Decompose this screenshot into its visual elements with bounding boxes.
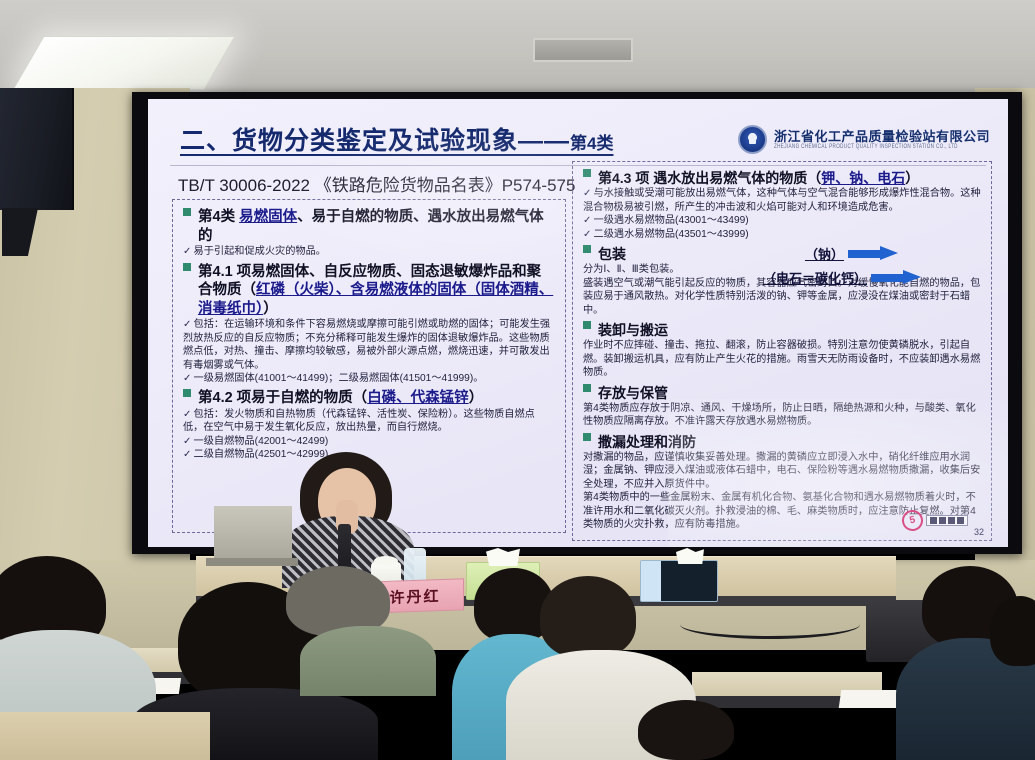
check-icon: ✓ <box>183 319 192 330</box>
stamp-toolbar-icon <box>926 515 968 526</box>
bullet-heading: 存放与保管 <box>583 384 981 402</box>
check-icon: ✓ <box>183 449 192 460</box>
slide-title-main: 二、货物分类鉴定及试验现象—— <box>180 127 570 155</box>
bullet-heading-text: 第4类 易燃固体、易于自燃的物质、遇水放出易燃气体的 <box>198 208 555 245</box>
bullet-square-icon <box>183 389 191 397</box>
bullet-line: ✓一级遇水易燃物品(43001～43499) <box>583 214 981 227</box>
paragraph-line: 第4类物质应存放于阴凉、通风、干燥场所，防止日晒，隔绝热源和火种，与酸类、氧化性… <box>583 402 981 429</box>
ceiling-light-panel <box>12 36 235 90</box>
bullet-heading-text: 撒漏处理和消防 <box>598 433 696 451</box>
bullet-heading-text: 装卸与搬运 <box>598 321 668 339</box>
bullet-heading: 第4.3 项 遇水放出易燃气体的物质（钾、钠、电石） <box>583 169 981 187</box>
bullet-line: ✓包括：发火物质和自热物质（代森锰锌、活性炭、保险粉）。这些物质自燃点低，在空气… <box>183 408 555 435</box>
bullet-heading-emphasis: 易燃固体 <box>239 209 297 225</box>
bullet-heading-emphasis: 红磷（火柴）、含易燃液体的固体（固体酒精、消毒纸巾） <box>198 282 553 317</box>
bullet-square-icon <box>583 321 591 329</box>
company-name-en: ZHEJIANG CHEMICAL PRODUCT QUALITY INSPEC… <box>774 144 990 150</box>
bullet-heading: 第4类 易燃固体、易于自燃的物质、遇水放出易燃气体的 <box>183 208 555 245</box>
slide-watermark: 5 <box>902 510 968 531</box>
callout-1: （钠） <box>805 244 900 263</box>
bullet-line: ✓包括：在运输环境和条件下容易燃烧或摩擦可能引燃或助燃的固体；可能发生强烈放热反… <box>183 318 555 372</box>
bullet-square-icon <box>583 433 591 441</box>
bullet-heading-emphasis: 白磷、代森锰锌 <box>367 390 469 406</box>
bullet-heading: 第4.2 项易于自燃的物质（白磷、代森锰锌） <box>183 389 555 408</box>
bullet-line: ✓与水接触或受潮可能放出易燃气体，这种气体与空气混合能够形成爆炸性混合物。这种混… <box>583 187 981 214</box>
slide-title-sub: 第4类 <box>570 134 613 153</box>
audience-body-3 <box>300 626 436 696</box>
projected-slide: 二、货物分类鉴定及试验现象——第4类 浙江省化工产品质量检验站有限公司 ZHEJ… <box>148 99 1008 547</box>
bullet-heading: 撒漏处理和消防 <box>583 433 981 451</box>
audience-head-6 <box>638 700 734 760</box>
laptop <box>214 506 292 560</box>
right-arrow-icon <box>848 247 900 260</box>
bullet-line: ✓二级遇水易燃物品(43501～43999) <box>583 228 981 241</box>
check-icon: ✓ <box>583 215 592 226</box>
bullet-line: ✓易于引起和促成火灾的物品。 <box>183 245 555 258</box>
bullet-square-icon <box>583 245 591 253</box>
paragraph-line: 作业时不应摔碰、撞击、拖拉、翻滚，防止容器破损。特别注意勿使黄磷脱水，引起自燃。… <box>583 339 981 379</box>
bullet-line: ✓一级自燃物品(42001～42499) <box>183 435 555 448</box>
bullet-square-icon <box>583 169 591 177</box>
check-icon: ✓ <box>183 246 192 257</box>
bullet-line: ✓一级易燃固体(41001～41499)；二级易燃固体(41501～41999)… <box>183 372 555 385</box>
bullet-heading-text: 存放与保管 <box>598 384 668 402</box>
bullet-heading-text: 包装 <box>598 245 626 263</box>
cable <box>680 610 860 639</box>
bullet-heading: 装卸与搬运 <box>583 321 981 339</box>
company-brand-text: 浙江省化工产品质量检验站有限公司 ZHEJIANG CHEMICAL PRODU… <box>774 130 990 148</box>
check-icon: ✓ <box>183 436 192 447</box>
bullet-heading: 包装 <box>583 245 981 263</box>
check-icon: ✓ <box>183 409 192 420</box>
bullet-heading-text: 第4.1 项易燃固体、自反应物质、固态退敏爆炸品和聚合物质（红磷（火柴）、含易燃… <box>198 263 555 319</box>
bullet-heading: 第4.1 项易燃固体、自反应物质、固态退敏爆炸品和聚合物质（红磷（火柴）、含易燃… <box>183 263 555 319</box>
bullet-heading-emphasis: 钾、钠、电石 <box>821 170 905 186</box>
bullet-heading-text: 第4.2 项易于自燃的物质（白磷、代森锰锌） <box>198 389 483 408</box>
company-brand: 浙江省化工产品质量检验站有限公司 ZHEJIANG CHEMICAL PRODU… <box>738 125 990 154</box>
slide-title: 二、货物分类鉴定及试验现象——第4类 <box>180 121 613 157</box>
callout-label: （电石＝碳化钙） <box>763 268 867 287</box>
tissue-sheet-green <box>486 548 520 566</box>
check-icon: ✓ <box>583 229 592 240</box>
check-icon: ✓ <box>583 188 592 199</box>
tissue-box-blue <box>640 560 718 602</box>
bullet-square-icon <box>183 208 191 216</box>
audience-head-5 <box>540 576 636 658</box>
ceiling-air-vent-icon <box>533 38 633 62</box>
wall-speaker <box>0 88 74 210</box>
tea-cup-lid <box>374 556 398 566</box>
callout-label: （钠） <box>805 244 844 263</box>
standard-reference-line: TB/T 30006-2022 《铁路危险货物品名表》P574-575 <box>178 171 575 196</box>
check-icon: ✓ <box>183 373 192 384</box>
slide-page-number: 32 <box>974 527 984 537</box>
presenter-name: 许丹红 <box>389 585 440 608</box>
slide-right-column: 第4.3 项 遇水放出易燃气体的物质（钾、钠、电石）✓与水接触或受潮可能放出易燃… <box>572 161 992 541</box>
lecture-room-photo: 二、货物分类鉴定及试验现象——第4类 浙江省化工产品质量检验站有限公司 ZHEJ… <box>0 0 1035 760</box>
bullet-square-icon <box>183 263 191 271</box>
company-logo-icon <box>738 125 767 154</box>
bullet-square-icon <box>583 384 591 392</box>
callout-2: （电石＝碳化钙） <box>763 268 923 287</box>
laptop-base <box>206 558 298 566</box>
paragraph-line: 对撒漏的物品，应谨慎收集妥善处理。撒漏的黄磷应立即浸入水中，硝化纤维应用水润湿；… <box>583 451 981 491</box>
right-arrow-icon <box>871 271 923 284</box>
front-table-ledge <box>0 712 210 760</box>
stamp-ring-icon: 5 <box>900 508 925 533</box>
bullet-heading-text: 第4.3 项 遇水放出易燃气体的物质（钾、钠、电石） <box>598 169 919 187</box>
